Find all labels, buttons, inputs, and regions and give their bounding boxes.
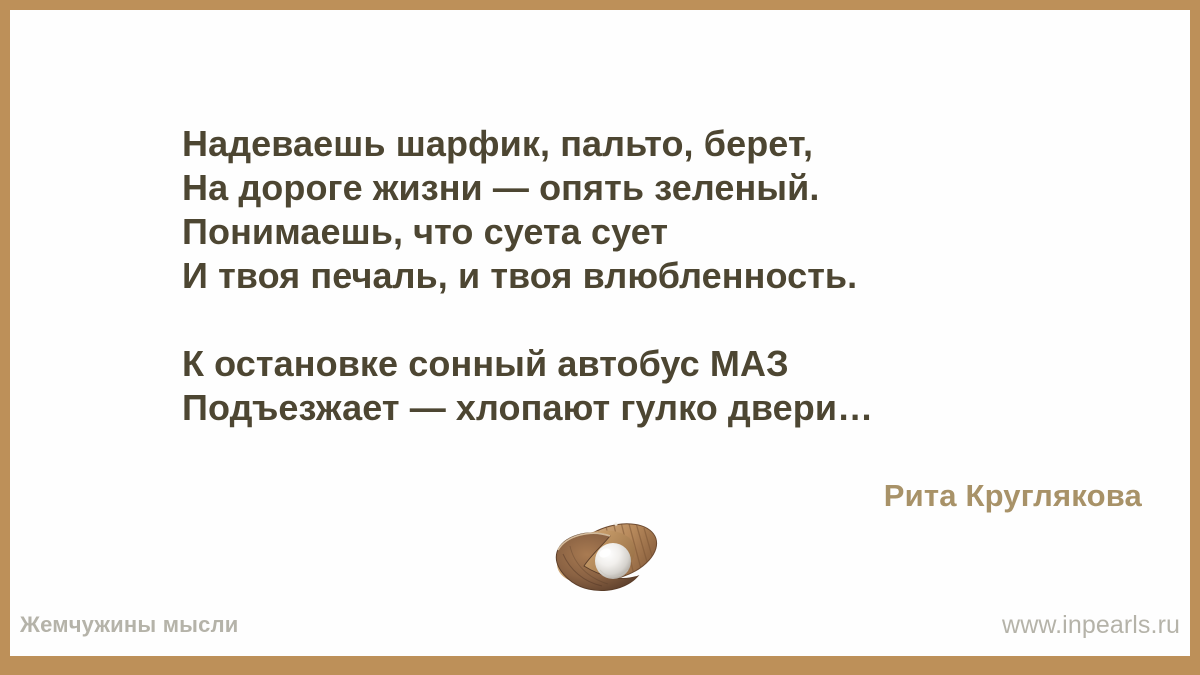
quote-line-spacer: [182, 298, 1182, 342]
quote-line: К остановке сонный автобус МАЗ: [182, 342, 1182, 386]
quote-line: На дороге жизни — опять зеленый.: [182, 166, 1182, 210]
oyster-shell-with-pearl-icon: [540, 512, 670, 602]
quote-block: Надеваешь шарфик, пальто, берет, На доро…: [182, 122, 1182, 430]
site-url-label[interactable]: www.inpearls.ru: [1002, 611, 1180, 640]
quote-author: Рита Круглякова: [884, 478, 1142, 514]
quote-line: И твоя печаль, и твоя влюбленность.: [182, 254, 1182, 298]
quote-card: Надеваешь шарфик, пальто, берет, На доро…: [0, 0, 1200, 675]
quote-line: Подъезжает — хлопают гулко двери…: [182, 386, 1182, 430]
quote-line: Надеваешь шарфик, пальто, берет,: [182, 122, 1182, 166]
quote-line: Понимаешь, что суета сует: [182, 210, 1182, 254]
site-name-label: Жемчужины мысли: [20, 612, 239, 638]
